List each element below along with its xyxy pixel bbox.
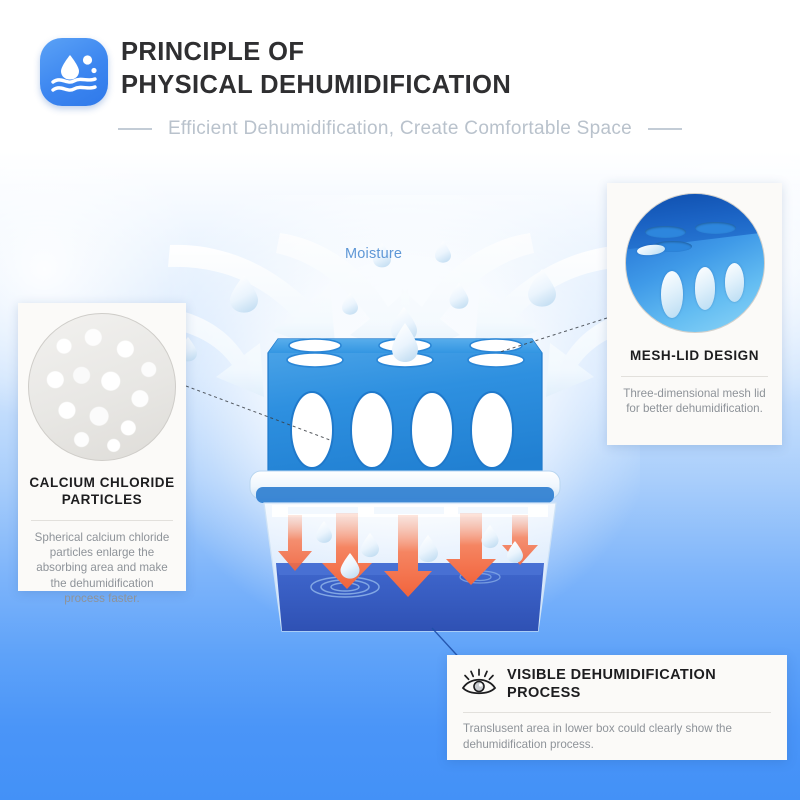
mesh-lid-top-face — [625, 193, 765, 251]
card-title-bottom: VISIBLE DEHUMIDIFICATION PROCESS — [507, 667, 773, 702]
mesh-lid-image — [625, 193, 765, 333]
mesh-slot-1 — [645, 226, 686, 238]
subtitle-text: Efficient Dehumidification, Create Comfo… — [168, 118, 632, 140]
title-line-2: PHYSICAL DEHUMIDIFICATION — [121, 69, 511, 102]
calcium-chloride-particles-card[interactable]: CALCIUM CHLORIDE PARTICLES Spherical cal… — [18, 303, 186, 591]
eye-icon — [461, 668, 497, 696]
card-divider-right — [621, 376, 768, 377]
water-drop-wave-icon — [40, 38, 108, 106]
header: PRINCIPLE OF PHYSICAL DEHUMIDIFICATION E… — [0, 0, 800, 160]
card-divider-bottom — [463, 712, 771, 713]
mesh-lid — [268, 323, 542, 487]
card-body-right: Three-dimensional mesh lid for better de… — [617, 386, 772, 416]
mesh-front-hole-3 — [725, 263, 744, 302]
subtitle-dash-left — [118, 128, 152, 130]
subtitle-dash-right — [648, 128, 682, 130]
card-title-left: CALCIUM CHLORIDE PARTICLES — [27, 474, 177, 508]
calcium-chloride-particles-image — [28, 313, 176, 461]
visible-process-header: VISIBLE DEHUMIDIFICATION PROCESS — [461, 667, 773, 702]
mesh-front-hole-1 — [661, 271, 683, 318]
mesh-slot-2 — [695, 222, 736, 234]
card-title-right: MESH-LID DESIGN — [617, 347, 772, 364]
card-divider-left — [31, 520, 173, 521]
lid-rim — [250, 471, 560, 503]
mesh-lid-design-card[interactable]: MESH-LID DESIGN Three-dimensional mesh l… — [607, 183, 782, 445]
mesh-front-hole-2 — [695, 267, 716, 310]
title-line-1: PRINCIPLE OF — [121, 36, 511, 69]
moisture-label: Moisture — [345, 246, 402, 262]
card-body-left: Spherical calcium chloride particles enl… — [27, 530, 177, 606]
subtitle: Efficient Dehumidification, Create Comfo… — [0, 118, 800, 140]
card-body-bottom: Translusent area in lower box could clea… — [461, 721, 773, 753]
infographic-canvas: PRINCIPLE OF PHYSICAL DEHUMIDIFICATION E… — [0, 0, 800, 800]
product-illustration — [160, 215, 650, 655]
visible-process-card[interactable]: VISIBLE DEHUMIDIFICATION PROCESS Translu… — [447, 655, 787, 760]
page-title: PRINCIPLE OF PHYSICAL DEHUMIDIFICATION — [121, 36, 511, 102]
